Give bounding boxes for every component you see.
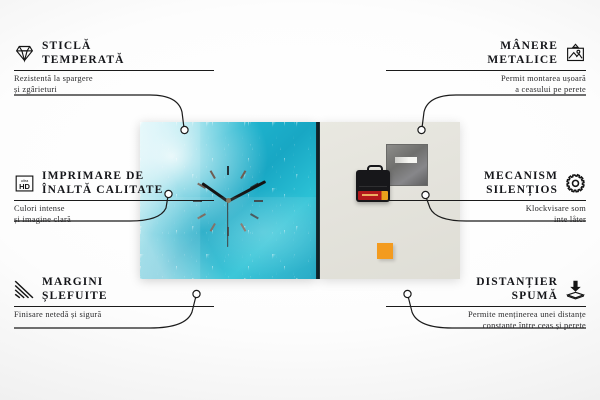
callout-subtitle: Rezistentă la spargere bbox=[14, 74, 214, 85]
callout-subtitle: Finisare netedă și sigură bbox=[14, 310, 214, 321]
callout-tempered-glass: STICLĂ TEMPERATĂ Rezistentă la spargere … bbox=[14, 40, 214, 95]
divider bbox=[14, 200, 214, 201]
callout-title: METALICE bbox=[487, 54, 558, 68]
infographic-canvas: STICLĂ TEMPERATĂ Rezistentă la spargere … bbox=[0, 0, 600, 400]
hour-marker bbox=[210, 170, 247, 232]
hour-marker bbox=[210, 170, 247, 232]
callout-subtitle: și imagine clară bbox=[14, 215, 214, 226]
hour-marker bbox=[210, 170, 247, 232]
diagonal-lines-icon bbox=[14, 279, 35, 300]
divider bbox=[14, 306, 214, 307]
diamond-icon bbox=[14, 43, 35, 64]
framed-picture-icon bbox=[565, 43, 586, 64]
callout-title: MARGINI bbox=[42, 276, 108, 290]
callout-title: IMPRIMARE DE bbox=[42, 170, 163, 184]
callout-silent-mechanism: MECANISM SILENȚIOS Klockvisare som inte … bbox=[386, 170, 586, 225]
hour-marker bbox=[210, 170, 247, 232]
divider bbox=[14, 70, 214, 71]
svg-text:HD: HD bbox=[19, 182, 30, 191]
callout-subtitle: a ceasului pe perete bbox=[386, 85, 586, 96]
callout-title: ȘLEFUITE bbox=[42, 290, 108, 304]
callout-foam-spacer: DISTANȚIER SPUMĂ Permite menținerea unei… bbox=[386, 276, 586, 331]
clock-center-cap bbox=[226, 198, 231, 203]
callout-title: MÂNERE bbox=[487, 40, 558, 54]
minute-hand bbox=[227, 180, 265, 202]
battery bbox=[358, 191, 388, 200]
divider bbox=[386, 306, 586, 307]
callout-title: TEMPERATĂ bbox=[42, 54, 125, 68]
callout-subtitle: Permite menținerea unei distanțe bbox=[386, 310, 586, 321]
divider bbox=[386, 200, 586, 201]
arrow-down-pad-icon bbox=[565, 279, 586, 300]
callout-high-quality-print: ultra HD IMPRIMARE DE ÎNALTĂ CALITATE Cu… bbox=[14, 170, 214, 225]
callout-title: DISTANȚIER bbox=[476, 276, 558, 290]
hour-marker bbox=[227, 166, 229, 236]
hour-marker bbox=[227, 166, 229, 236]
callout-title: STICLĂ bbox=[42, 40, 125, 54]
callout-title: MECANISM bbox=[484, 170, 558, 184]
ultra-hd-icon: ultra HD bbox=[14, 173, 35, 194]
callout-subtitle: și zgârieturi bbox=[14, 85, 214, 96]
callout-metal-handles: MÂNERE METALICE Permit montarea ușoară a… bbox=[386, 40, 586, 95]
divider bbox=[386, 70, 586, 71]
callout-subtitle: Permit montarea ușoară bbox=[386, 74, 586, 85]
callout-subtitle: Culori intense bbox=[14, 204, 214, 215]
foam-spacer bbox=[377, 243, 393, 259]
callout-title: SILENȚIOS bbox=[484, 184, 558, 198]
gear-icon bbox=[565, 173, 586, 194]
callout-subtitle: inte låter bbox=[386, 215, 586, 226]
callout-subtitle: Klockvisare som bbox=[386, 204, 586, 215]
clock-mechanism bbox=[356, 170, 390, 202]
callout-polished-edges: MARGINI ȘLEFUITE Finisare netedă și sigu… bbox=[14, 276, 214, 321]
callout-subtitle: constante între ceas și perete bbox=[386, 321, 586, 332]
callout-title: SPUMĂ bbox=[476, 290, 558, 304]
second-hand bbox=[227, 201, 228, 247]
callout-title: ÎNALTĂ CALITATE bbox=[42, 184, 163, 198]
